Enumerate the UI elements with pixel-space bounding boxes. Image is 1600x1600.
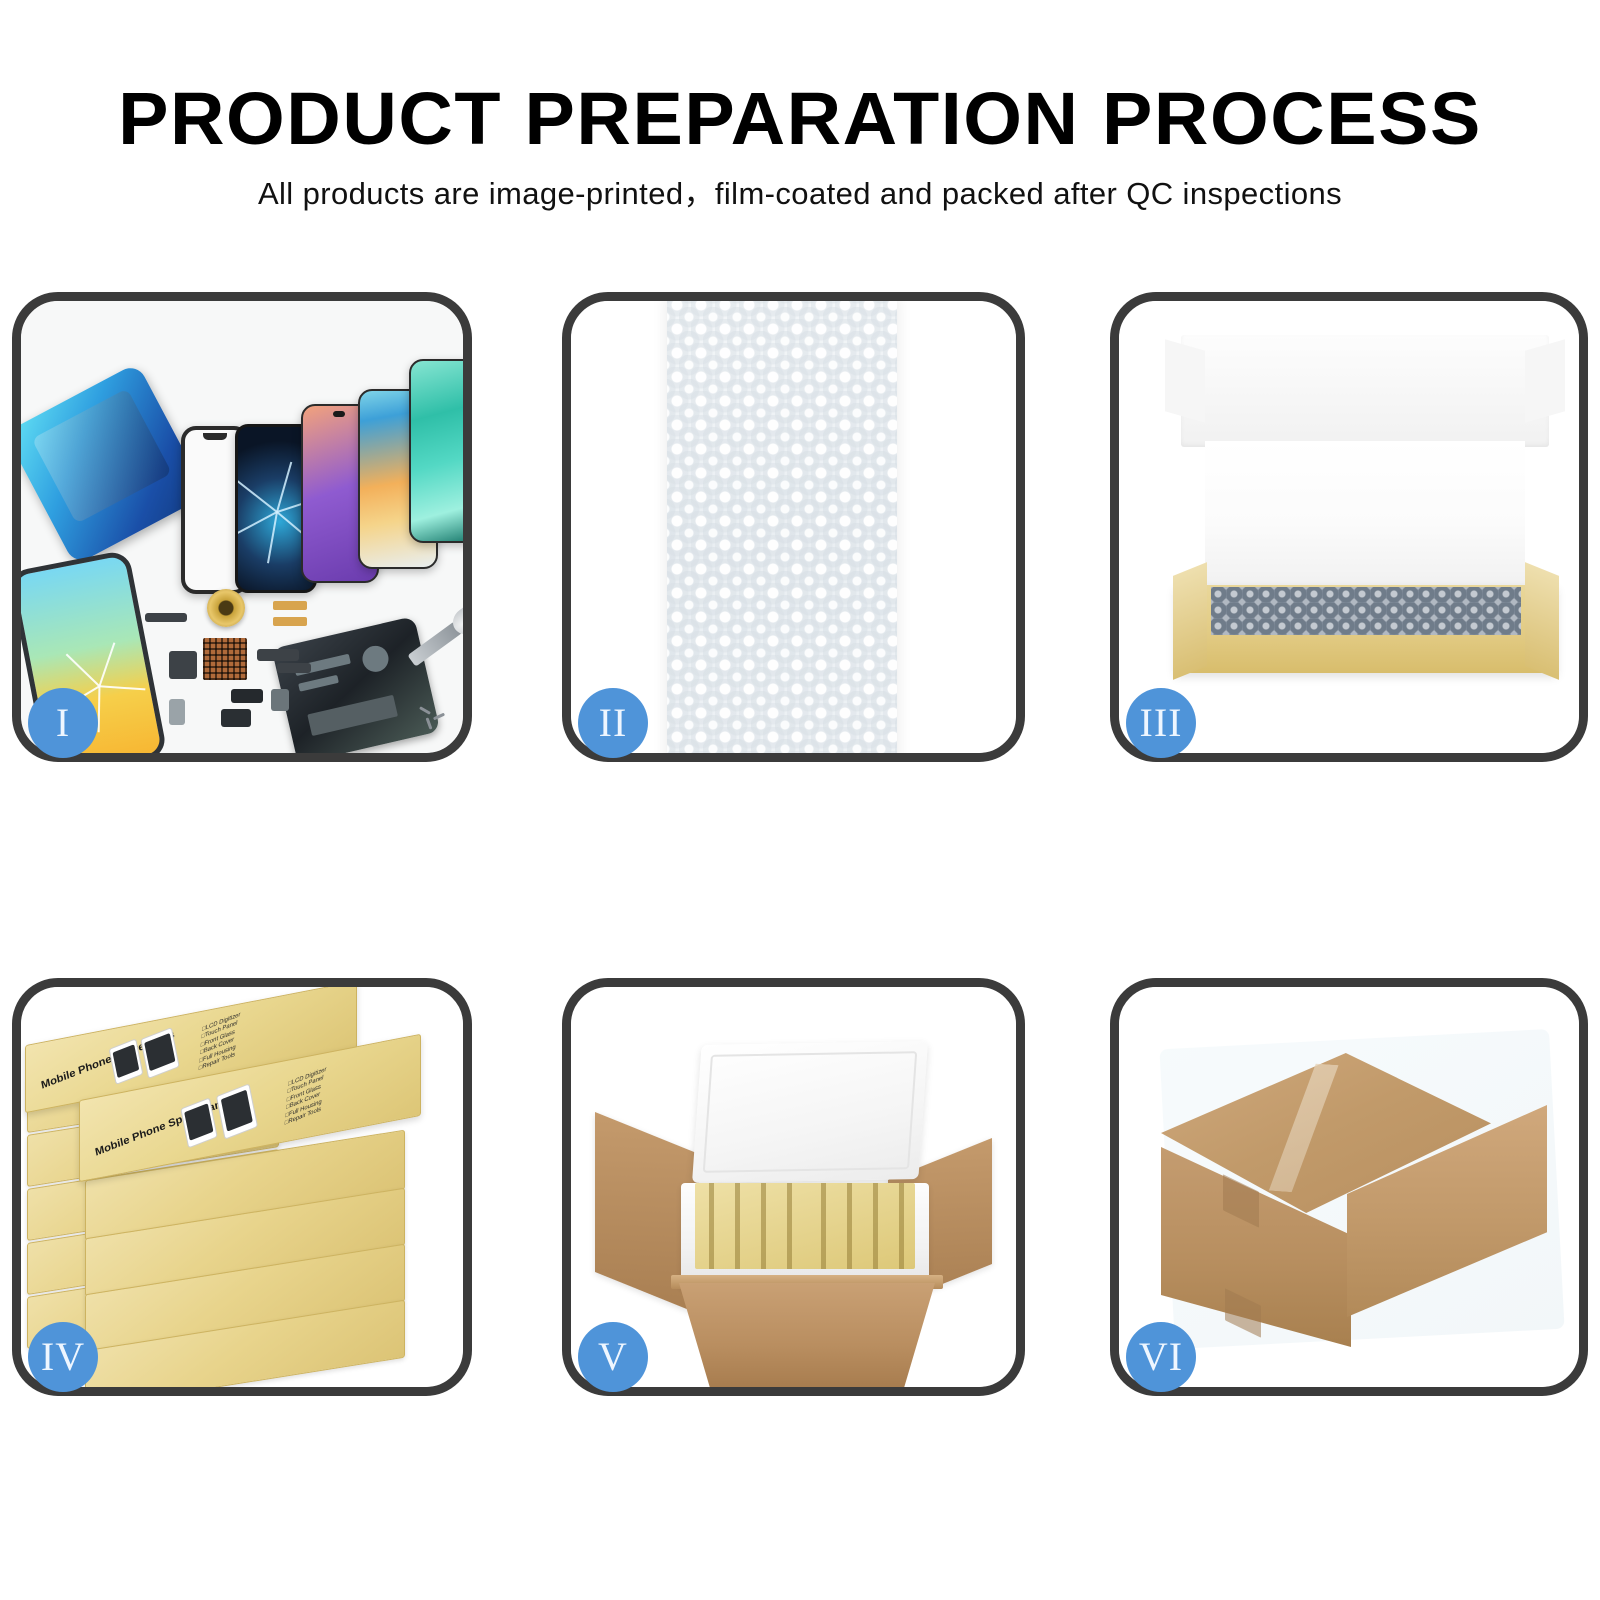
parts-collage-image xyxy=(21,301,463,753)
camera-module-part xyxy=(271,689,289,711)
screws-group xyxy=(419,709,455,731)
white-box-lid-face xyxy=(1205,441,1525,593)
step-panel-2[interactable] xyxy=(562,292,1025,762)
step-image-6 xyxy=(1119,987,1579,1387)
step-badge-2: II xyxy=(578,688,648,758)
step-image-4: Mobile Phone Spare Parts LCD Digitizer T… xyxy=(21,987,463,1387)
battery-connector-part xyxy=(231,689,263,703)
flex-connector-b xyxy=(273,617,307,626)
taptic-engine-part xyxy=(221,709,251,727)
teal-phone-part xyxy=(409,359,463,543)
volume-flex-cable xyxy=(257,649,299,661)
chip-array-part xyxy=(203,638,247,680)
stacked-retail-boxes-image: Mobile Phone Spare Parts LCD Digitizer T… xyxy=(21,987,463,1387)
adhesive-sticker-part xyxy=(21,363,207,566)
wireless-charging-coil-part xyxy=(207,589,245,627)
bubble-wrap-inside-box xyxy=(1211,587,1521,635)
step-image-1 xyxy=(21,301,463,753)
open-inner-box-image xyxy=(1119,301,1579,753)
speaker-mesh-part xyxy=(145,613,187,622)
bubble-wrap-film xyxy=(667,301,897,753)
step-badge-4: IV xyxy=(28,1322,98,1392)
carton-body xyxy=(679,1283,935,1387)
carton-loading-image xyxy=(571,987,1016,1387)
step-image-5 xyxy=(571,987,1016,1387)
step-badge-6: VI xyxy=(1126,1322,1196,1392)
step-badge-1: I xyxy=(28,688,98,758)
step-image-3 xyxy=(1119,301,1579,753)
white-box-lid-top xyxy=(1181,335,1549,447)
gold-boxes-inside-foam xyxy=(695,1183,915,1269)
power-flex-cable xyxy=(169,651,197,679)
step-badge-5: V xyxy=(578,1322,648,1392)
flex-connector-a xyxy=(273,601,307,610)
foam-cooler-lid xyxy=(692,1041,928,1183)
bubble-wrapped-screen-image xyxy=(571,301,1016,753)
step-image-2 xyxy=(571,301,1016,753)
sim-tray-part xyxy=(169,699,185,725)
process-step-grid: I II III xyxy=(0,0,1600,1600)
back-housing-part xyxy=(272,616,441,753)
step-badge-3: III xyxy=(1126,688,1196,758)
sealed-carton-image xyxy=(1119,987,1579,1387)
step-panel-3[interactable] xyxy=(1110,292,1588,762)
retail-box-thumb-b2 xyxy=(216,1083,258,1139)
antenna-flex xyxy=(277,663,311,673)
retail-box-checklist-front: LCD Digitizer Touch Panel Front Glass Ba… xyxy=(284,1067,326,1129)
step-panel-1[interactable] xyxy=(12,292,472,762)
retail-box-checklist-top: LCD Digitizer Touch Panel Front Glass Ba… xyxy=(198,1012,240,1074)
